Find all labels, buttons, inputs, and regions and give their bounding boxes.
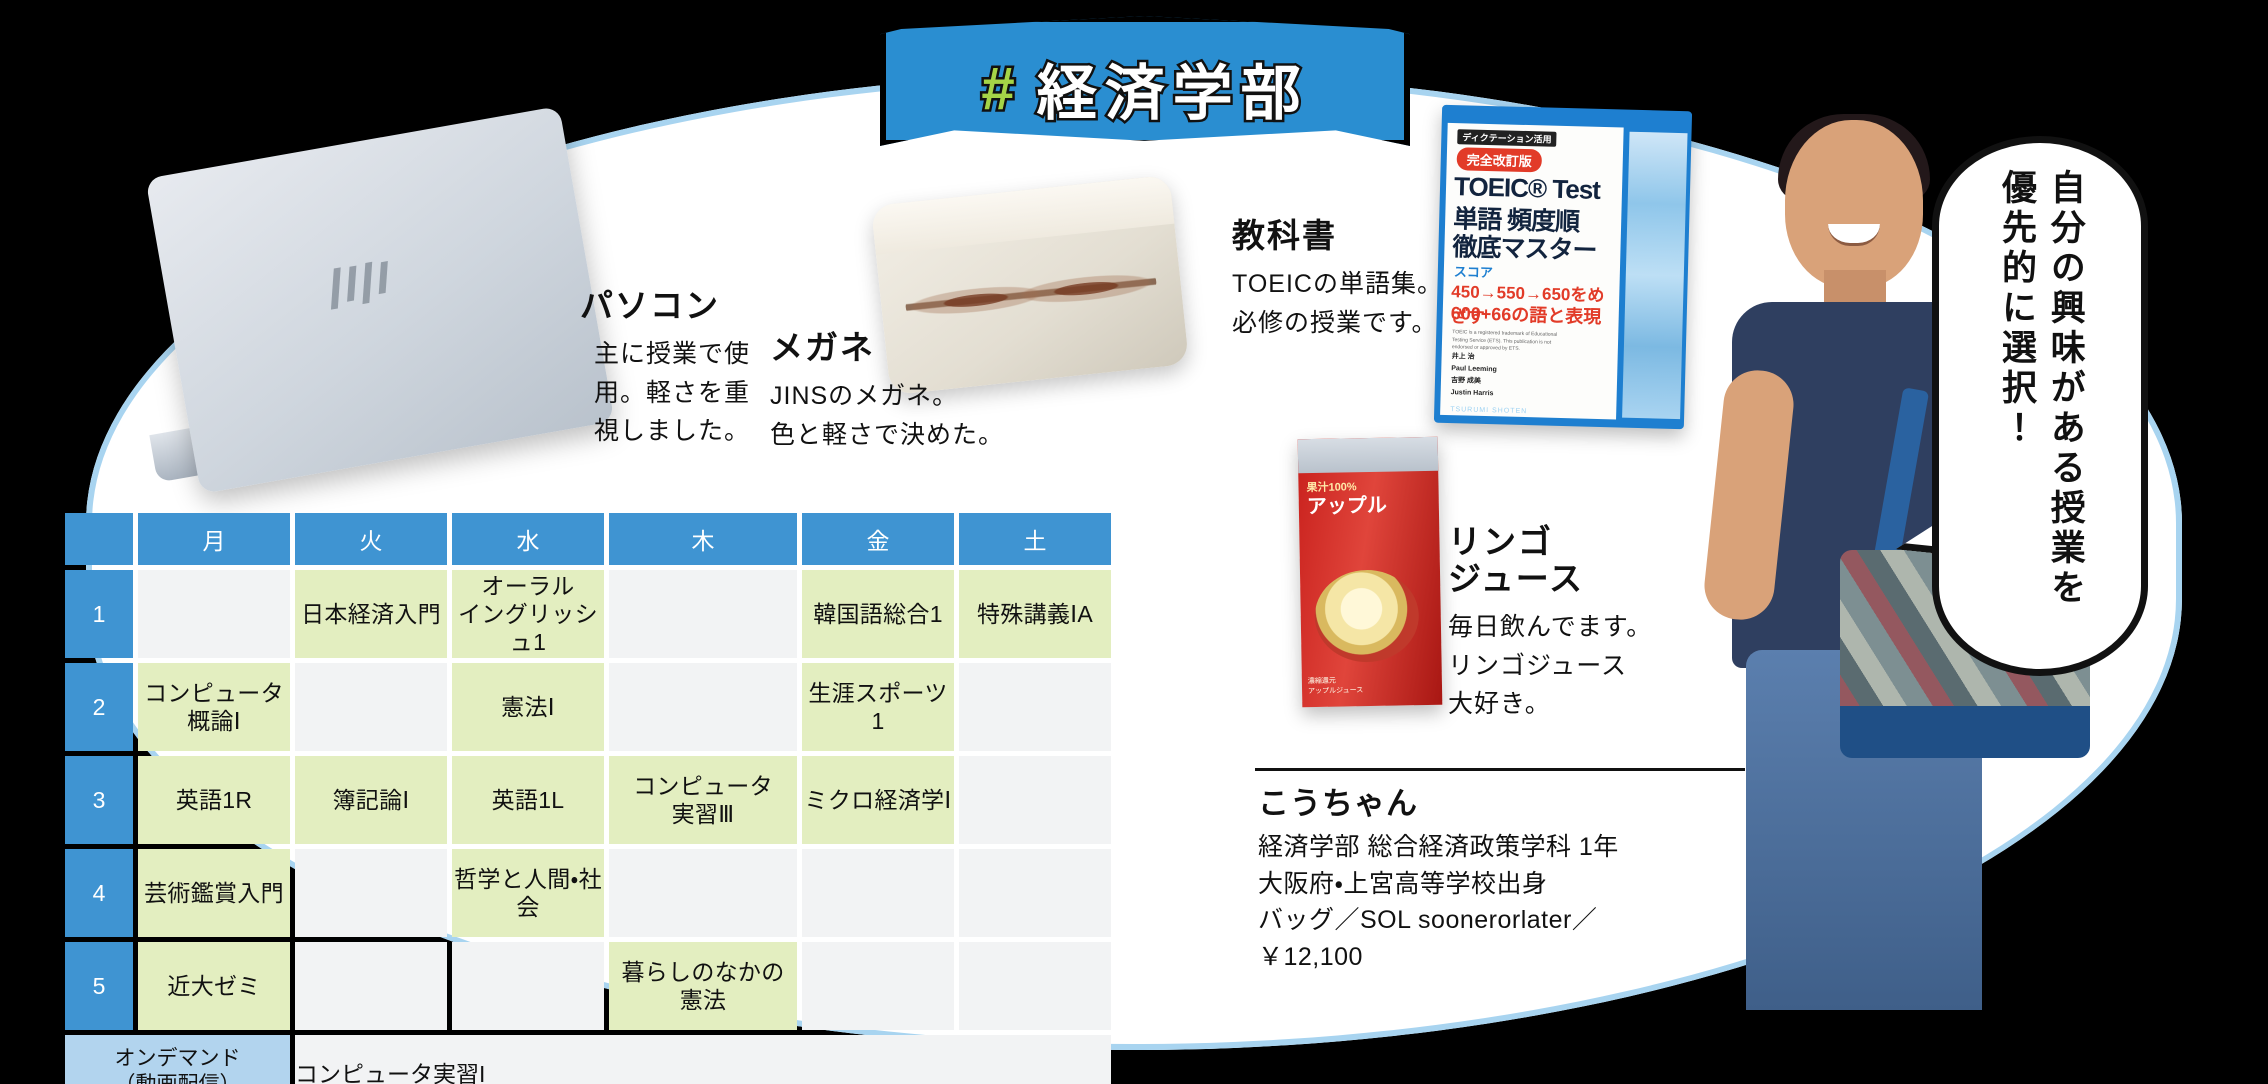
profile-line-3: ￥12,100 (1258, 939, 1619, 976)
timetable-table: 月 火 水 木 金 土 1 日本経済入門 オーラル イングリッシュ1 韓国語総合… (60, 508, 1116, 1084)
cell-5-wed[interactable] (452, 942, 604, 1030)
speech-line-1: 自分の興味がある授業を (2046, 169, 2083, 643)
cell-3-sat[interactable] (959, 756, 1111, 844)
tote-bag-base (1840, 706, 2090, 758)
caption-glasses-body: JINSのメガネ。 色と軽さで決めた。 (770, 377, 1020, 455)
poster-root: # 経済学部 ディクテーション活用 完全改訂版 TOEIC® Test 単語 頻… (0, 0, 2268, 1084)
timetable: 月 火 水 木 金 土 1 日本経済入門 オーラル イングリッシュ1 韓国語総合… (60, 508, 1116, 1084)
day-header-tue: 火 (295, 513, 447, 565)
cell-1-mon[interactable] (138, 570, 290, 658)
cell-1-tue[interactable]: 日本経済入門 (295, 570, 447, 658)
timetable-corner-cell (65, 513, 133, 565)
ondemand-label: オンデマンド （動画配信） (65, 1035, 290, 1084)
day-header-wed: 水 (452, 513, 604, 565)
cell-3-tue[interactable]: 簿記論Ⅰ (295, 756, 447, 844)
cell-1-sat[interactable]: 特殊講義ⅠA (959, 570, 1111, 658)
caption-textbook: 教科書 TOEICの単語集。 必修の授業です。 (1232, 218, 1462, 342)
page-title: 経済学部 (1037, 45, 1309, 132)
profile-line-0: 経済学部 総合経済政策学科 1年 (1258, 829, 1619, 866)
cell-5-fri[interactable] (802, 942, 954, 1030)
toeic-book-photo: ディクテーション活用 完全改訂版 TOEIC® Test 単語 頻度順 徹底マス… (1434, 105, 1692, 429)
cell-4-mon[interactable]: 芸術鑑賞入門 (138, 849, 290, 937)
speech-bubble: 自分の興味がある授業を 優先的に選択！ (1932, 136, 2148, 676)
cell-4-wed[interactable]: 哲学と人間・社会 (452, 849, 604, 937)
book-trademark-note: TOEIC is a registered trademark of Educa… (1452, 329, 1573, 355)
timetable-body: 1 日本経済入門 オーラル イングリッシュ1 韓国語総合1 特殊講義ⅠA 2 コ… (65, 570, 1111, 1084)
book-publisher: TSURUMI SHOTEN (1450, 406, 1527, 415)
ribbon-text: # 経済学部 (880, 16, 1410, 146)
period-label-1: 1 (65, 570, 133, 658)
cell-4-sat[interactable] (959, 849, 1111, 937)
caption-pc: パソコン 主に授業で使 用。軽さを重 視しました。 (580, 288, 750, 451)
cell-3-wed[interactable]: 英語1L (452, 756, 604, 844)
caption-juice-body: 毎日飲んでます。 リンゴジュース 大好き。 (1448, 608, 1708, 724)
book-line-2: 完全改訂版 (1456, 147, 1542, 172)
cell-2-tue[interactable] (295, 663, 447, 751)
cell-4-thu[interactable] (609, 849, 797, 937)
cell-2-sat[interactable] (959, 663, 1111, 751)
juice-carton-top (1298, 437, 1439, 473)
juice-label-2: アップル (1307, 496, 1387, 518)
period-label-2: 2 (65, 663, 133, 751)
header-ribbon: # 経済学部 (880, 16, 1410, 146)
student-profile: こうちゃん 経済学部 総合経済政策学科 1年 大阪府・上宮高等学校出身 バッグ／… (1258, 778, 1619, 975)
caption-textbook-title: 教科書 (1232, 218, 1462, 255)
day-header-thu: 木 (609, 513, 797, 565)
table-row: 1 日本経済入門 オーラル イングリッシュ1 韓国語総合1 特殊講義ⅠA (65, 570, 1111, 658)
caption-glasses: メガネ JINSのメガネ。 色と軽さで決めた。 (770, 330, 1020, 454)
period-label-3: 3 (65, 756, 133, 844)
table-row: 3 英語1R 簿記論Ⅰ 英語1L コンピュータ 実習Ⅲ ミクロ経済学Ⅰ (65, 756, 1111, 844)
day-header-fri: 金 (802, 513, 954, 565)
cell-5-tue[interactable] (295, 942, 447, 1030)
apple-illustration (1314, 569, 1420, 663)
book-line-8: 600+66の語と表現 (1450, 299, 1601, 329)
ondemand-row: オンデマンド （動画配信） コンピュータ実習I (65, 1035, 1111, 1084)
cell-3-thu[interactable]: コンピュータ 実習Ⅲ (609, 756, 797, 844)
cell-5-thu[interactable]: 暮らしのなかの 憲法 (609, 942, 797, 1030)
caption-juice-title: リンゴ ジュース (1448, 524, 1708, 598)
cell-4-fri[interactable] (802, 849, 954, 937)
student-head (1785, 120, 1923, 288)
caption-pc-body: 主に授業で使 用。軽さを重 視しました。 (580, 335, 750, 451)
book-cover-strip (1622, 132, 1687, 419)
cell-1-fri[interactable]: 韓国語総合1 (802, 570, 954, 658)
cell-5-mon[interactable]: 近大ゼミ (138, 942, 290, 1030)
cell-1-thu[interactable] (609, 570, 797, 658)
table-row: 5 近大ゼミ 暮らしのなかの 憲法 (65, 942, 1111, 1030)
cell-2-fri[interactable]: 生涯スポーツ1 (802, 663, 954, 751)
cell-2-thu[interactable] (609, 663, 797, 751)
table-row: 2 コンピュータ 概論Ⅰ 憲法Ⅰ 生涯スポーツ1 (65, 663, 1111, 751)
hash-icon: # (981, 54, 1022, 123)
caption-juice: リンゴ ジュース 毎日飲んでます。 リンゴジュース 大好き。 (1448, 524, 1708, 724)
cell-4-tue[interactable] (295, 849, 447, 937)
speech-line-2: 優先的に選択！ (1997, 169, 2034, 643)
caption-pc-title: パソコン (580, 288, 750, 325)
day-header-sat: 土 (959, 513, 1111, 565)
caption-textbook-body: TOEICの単語集。 必修の授業です。 (1232, 265, 1462, 343)
cell-3-fri[interactable]: ミクロ経済学Ⅰ (802, 756, 954, 844)
book-cover-face: ディクテーション活用 完全改訂版 TOEIC® Test 単語 頻度順 徹底マス… (1440, 123, 1624, 420)
caption-glasses-title: メガネ (770, 330, 1020, 367)
ondemand-value[interactable]: コンピュータ実習I (295, 1035, 1111, 1084)
profile-line-2: バッグ／SOL soonerorlater／ (1258, 902, 1619, 939)
juice-label-1: 果汁100% (1306, 478, 1356, 495)
book-authors: 井上 治 Paul Leeming 吉野 成美 Justin Harris (1451, 352, 1498, 401)
day-header-mon: 月 (138, 513, 290, 565)
profile-line-1: 大阪府・上宮高等学校出身 (1258, 866, 1619, 903)
cell-1-wed[interactable]: オーラル イングリッシュ1 (452, 570, 604, 658)
student-name: こうちゃん (1258, 778, 1619, 823)
apple-juice-photo: 果汁100% アップル 濃縮還元 アップルジュース (1298, 437, 1443, 707)
cell-2-wed[interactable]: 憲法Ⅰ (452, 663, 604, 751)
cell-5-sat[interactable] (959, 942, 1111, 1030)
table-row: 4 芸術鑑賞入門 哲学と人間・社会 (65, 849, 1111, 937)
timetable-header-row: 月 火 水 木 金 土 (65, 513, 1111, 565)
cell-3-mon[interactable]: 英語1R (138, 756, 290, 844)
profile-divider (1255, 768, 1745, 771)
period-label-4: 4 (65, 849, 133, 937)
juice-label-3: 濃縮還元 アップルジュース (1308, 677, 1364, 698)
speech-bubble-text: 自分の興味がある授業を 優先的に選択！ (1939, 143, 2141, 669)
book-line-1: ディクテーション活用 (1457, 129, 1557, 147)
cell-2-mon[interactable]: コンピュータ 概論Ⅰ (138, 663, 290, 751)
period-label-5: 5 (65, 942, 133, 1030)
